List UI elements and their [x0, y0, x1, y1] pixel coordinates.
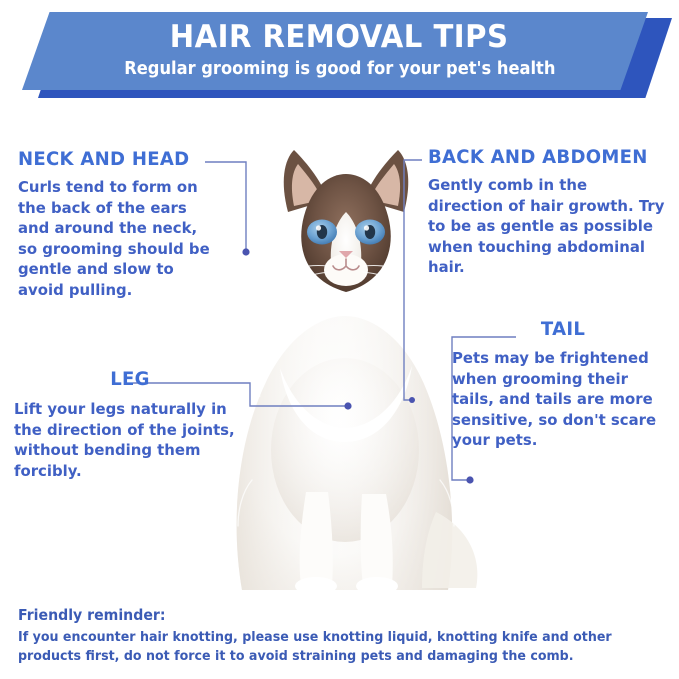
callout-body-back-and-abdomen: Gently comb in the direction of hair gro…: [428, 175, 666, 278]
callout-leg: LEG Lift your legs naturally in the dire…: [14, 370, 246, 481]
header-banner: HAIR REMOVAL TIPS Regular grooming is go…: [0, 0, 679, 105]
callout-tail: TAIL Pets may be frightened when groomin…: [452, 320, 674, 451]
friendly-reminder-body: If you encounter hair knotting, please u…: [18, 628, 623, 667]
banner-text-group: HAIR REMOVAL TIPS Regular grooming is go…: [0, 12, 679, 90]
callout-body-neck-and-head: Curls tend to form on the back of the ea…: [18, 177, 220, 301]
callout-neck-and-head: NECK AND HEAD Curls tend to form on the …: [18, 150, 228, 301]
callout-back-and-abdomen: BACK AND ABDOMEN Gently comb in the dire…: [428, 148, 676, 278]
callout-heading-tail: TAIL: [458, 320, 669, 340]
page-title: HAIR REMOVAL TIPS: [170, 22, 509, 53]
friendly-reminder: Friendly reminder: If you encounter hair…: [18, 606, 668, 666]
callout-body-leg: Lift your legs naturally in the directio…: [14, 399, 237, 481]
infographic-root: HAIR REMOVAL TIPS Regular grooming is go…: [0, 0, 679, 679]
callout-body-tail: Pets may be frightened when grooming the…: [452, 348, 665, 451]
friendly-reminder-title: Friendly reminder:: [18, 606, 629, 626]
callout-heading-leg: LEG: [20, 370, 240, 390]
page-subtitle: Regular grooming is good for your pet's …: [124, 60, 555, 79]
callout-heading-back-and-abdomen: BACK AND ABDOMEN: [428, 148, 664, 168]
callout-heading-neck-and-head: NECK AND HEAD: [18, 150, 218, 170]
